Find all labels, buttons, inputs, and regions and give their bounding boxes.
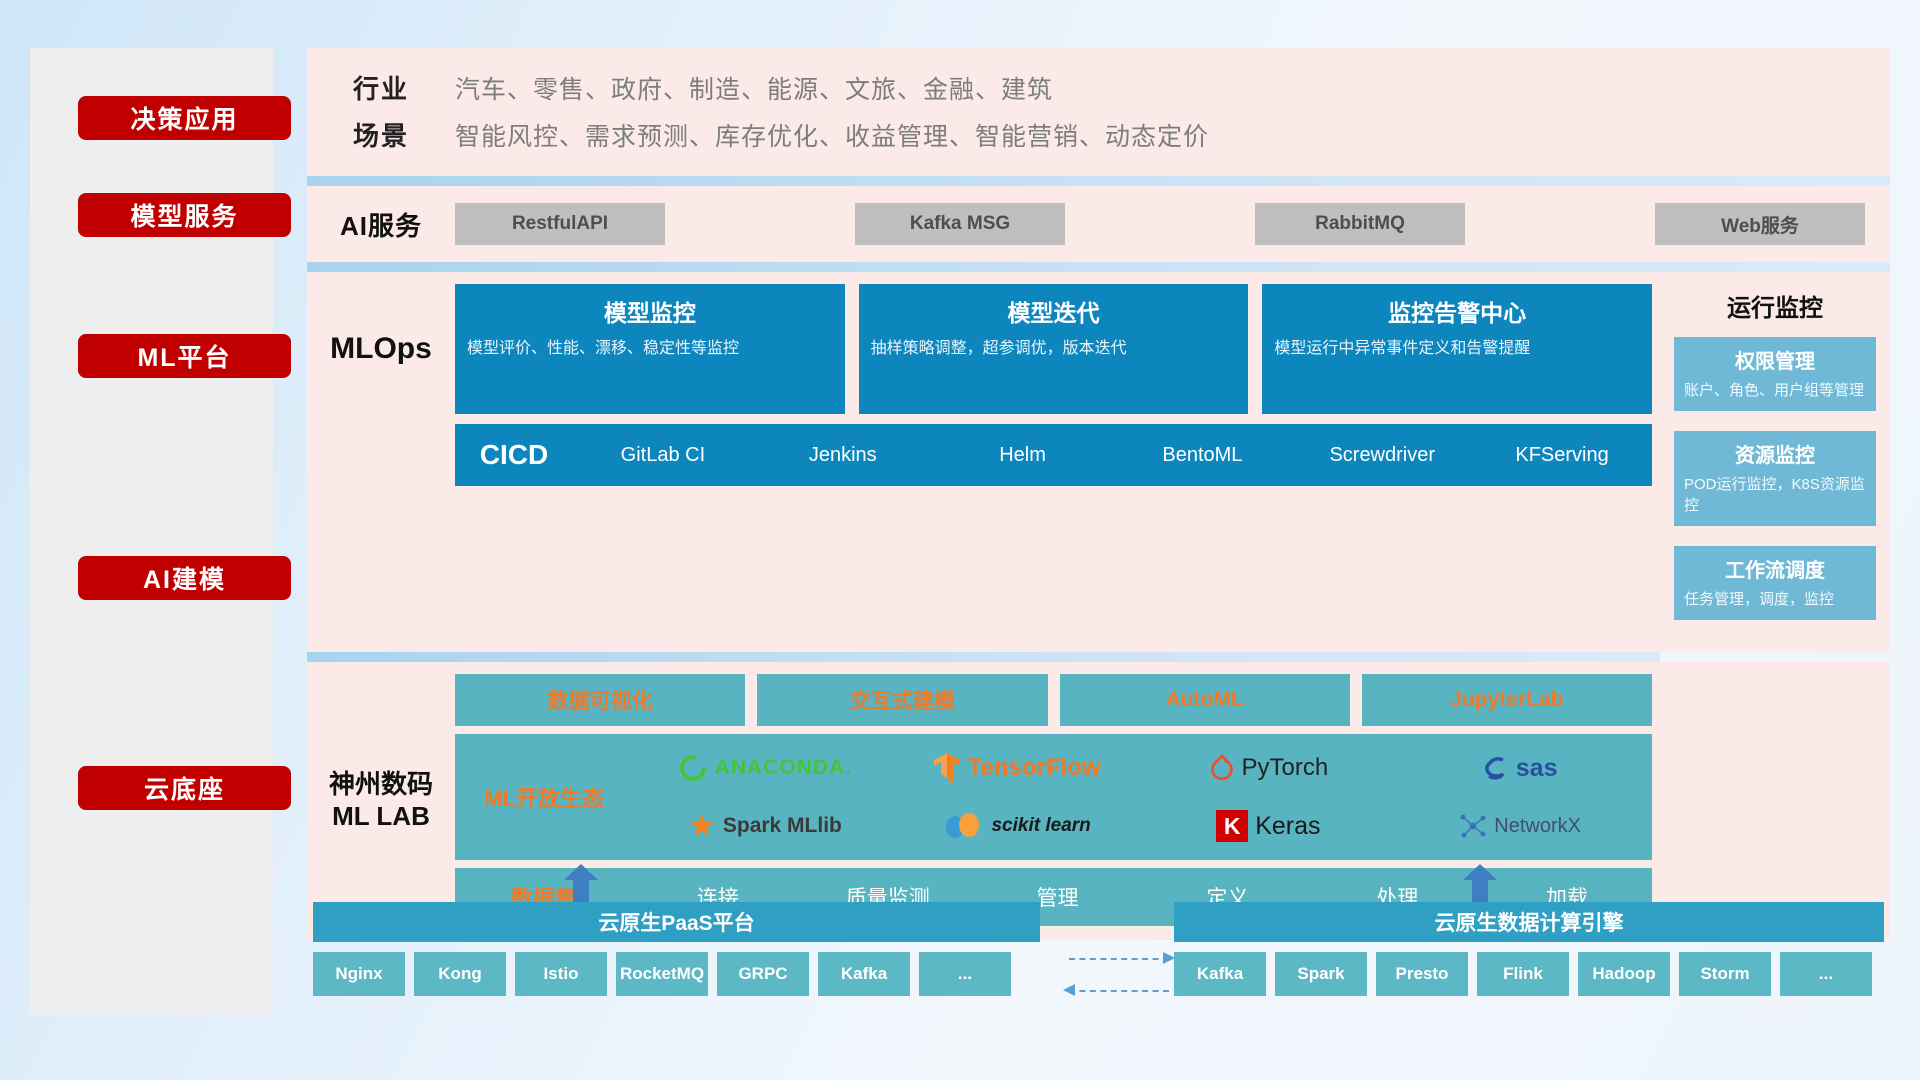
card-desc: 账户、角色、用户组等管理 bbox=[1684, 380, 1866, 401]
ml-ecosystem-logo-grid: ANACONDA. TensorFlow bbox=[633, 734, 1652, 860]
card-title: 监控告警中心 bbox=[1274, 294, 1640, 328]
card-title: 资源监控 bbox=[1684, 439, 1866, 468]
keras-label: Keras bbox=[1255, 812, 1320, 841]
chip-flink[interactable]: Flink bbox=[1477, 952, 1569, 996]
data-engine-bar[interactable]: 云原生数据计算引擎 bbox=[1174, 902, 1884, 942]
card-title: 模型迭代 bbox=[871, 294, 1237, 328]
scikit-learn-label: scikit learn bbox=[991, 815, 1090, 837]
tensorflow-icon bbox=[933, 752, 961, 784]
networkx-label: NetworkX bbox=[1494, 815, 1581, 838]
scikit-learn-icon bbox=[942, 811, 984, 841]
card-title: 工作流调度 bbox=[1684, 554, 1866, 583]
chip-istio[interactable]: Istio bbox=[515, 952, 607, 996]
anaconda-logo: ANACONDA. bbox=[678, 753, 852, 783]
cicd-item-helm[interactable]: Helm bbox=[933, 445, 1113, 466]
cicd-item-gitlab-ci[interactable]: GitLab CI bbox=[573, 445, 753, 466]
anaconda-label: ANACONDA. bbox=[715, 756, 852, 780]
service-chip-kafka-msg[interactable]: Kafka MSG bbox=[855, 203, 1065, 245]
rail-tag-model-service[interactable]: 模型服务 bbox=[78, 193, 291, 237]
networkx-icon bbox=[1459, 812, 1487, 840]
spark-icon bbox=[688, 813, 716, 839]
tensorflow-label: TensorFlow bbox=[968, 754, 1101, 782]
industry-row: 行业 汽车、零售、政府、制造、能源、文旅、金融、建筑 bbox=[307, 64, 1890, 111]
mlops-label: MLOps bbox=[307, 284, 455, 414]
tab-interactive-modeling[interactable]: 交互式建模 bbox=[757, 674, 1047, 726]
ml-ecosystem-label: ML开放生态 bbox=[455, 734, 633, 860]
arrow-right-icon bbox=[1163, 952, 1175, 964]
card-title: 权限管理 bbox=[1684, 345, 1866, 374]
tensorflow-logo: TensorFlow bbox=[933, 752, 1101, 784]
chip-nginx[interactable]: Nginx bbox=[313, 952, 405, 996]
ai-service-label: AI服务 bbox=[307, 206, 455, 243]
runtime-monitor-panel: 运行监控 权限管理 账户、角色、用户组等管理 资源监控 POD运行监控，K8S资… bbox=[1660, 272, 1890, 652]
mlops-card-list: 模型监控 模型评价、性能、漂移、稳定性等监控 模型迭代 抽样策略调整，超参调优，… bbox=[455, 284, 1660, 414]
paas-platform-bar[interactable]: 云原生PaaS平台 bbox=[313, 902, 1040, 942]
chip-hadoop[interactable]: Hadoop bbox=[1578, 952, 1670, 996]
cicd-item-list: GitLab CI Jenkins Helm BentoML Screwdriv… bbox=[573, 445, 1652, 466]
chip-rocketmq[interactable]: RocketMQ bbox=[616, 952, 708, 996]
mlops-panel: MLOps 模型监控 模型评价、性能、漂移、稳定性等监控 模型迭代 抽样策略调整… bbox=[307, 272, 1660, 652]
networkx-logo: NetworkX bbox=[1459, 812, 1581, 840]
tab-jupyterlab[interactable]: JupyterLab bbox=[1362, 674, 1652, 726]
architecture-diagram: 决策应用 模型服务 ML平台 AI建模 云底座 行业 汽车、零售、政府、制造、能… bbox=[0, 0, 1920, 1080]
chip-grpc[interactable]: GRPC bbox=[717, 952, 809, 996]
ai-service-band: AI服务 RestfulAPI Kafka MSG RabbitMQ Web服务 bbox=[307, 186, 1890, 262]
arrow-up-icon-right bbox=[1463, 864, 1497, 904]
cicd-bar: CICD GitLab CI Jenkins Helm BentoML Scre… bbox=[455, 424, 1652, 486]
sas-label: sas bbox=[1516, 754, 1558, 783]
rail-tag-cloud-base[interactable]: 云底座 bbox=[78, 766, 291, 810]
pytorch-icon bbox=[1209, 753, 1235, 783]
ml-lab-label-line1: 神州数码 bbox=[329, 768, 433, 801]
decision-application-band: 行业 汽车、零售、政府、制造、能源、文旅、金融、建筑 场景 智能风控、需求预测、… bbox=[307, 48, 1890, 176]
ml-lab-label-line2: ML LAB bbox=[332, 800, 430, 833]
mlops-card-alert-center[interactable]: 监控告警中心 模型运行中异常事件定义和告警提醒 bbox=[1262, 284, 1652, 414]
cicd-label: CICD bbox=[455, 439, 573, 471]
industry-values: 汽车、零售、政府、制造、能源、文旅、金融、建筑 bbox=[455, 70, 1053, 106]
chip-storm[interactable]: Storm bbox=[1679, 952, 1771, 996]
chip-spark[interactable]: Spark bbox=[1275, 952, 1367, 996]
sas-logo: sas bbox=[1483, 754, 1558, 783]
service-chip-web[interactable]: Web服务 bbox=[1655, 203, 1865, 245]
runtime-monitor-title: 运行监控 bbox=[1674, 288, 1876, 323]
chip-kong[interactable]: Kong bbox=[414, 952, 506, 996]
industry-label: 行业 bbox=[307, 69, 455, 106]
monitor-card-workflow[interactable]: 工作流调度 任务管理，调度，监控 bbox=[1674, 546, 1876, 620]
spark-mllib-logo: Spark MLlib bbox=[688, 813, 842, 839]
band-separator bbox=[307, 176, 1890, 186]
rail-tag-ml-platform[interactable]: ML平台 bbox=[78, 334, 291, 378]
pytorch-label: PyTorch bbox=[1242, 754, 1329, 782]
chip-kafka[interactable]: Kafka bbox=[1174, 952, 1266, 996]
mlops-card-model-iteration[interactable]: 模型迭代 抽样策略调整，超参调优，版本迭代 bbox=[859, 284, 1249, 414]
anaconda-icon bbox=[678, 753, 708, 783]
cicd-item-kfserving[interactable]: KFServing bbox=[1472, 445, 1652, 466]
arrow-left-icon bbox=[1063, 984, 1075, 996]
service-chip-rabbitmq[interactable]: RabbitMQ bbox=[1255, 203, 1465, 245]
cloud-base-section: 云原生PaaS平台 云原生数据计算引擎 Nginx Kong Istio Roc… bbox=[307, 886, 1890, 1016]
paas-chip-row: Nginx Kong Istio RocketMQ GRPC Kafka ... bbox=[313, 952, 1011, 996]
rail-tag-ai-modeling[interactable]: AI建模 bbox=[78, 556, 291, 600]
mlops-row: MLOps 模型监控 模型评价、性能、漂移、稳定性等监控 模型迭代 抽样策略调整… bbox=[307, 272, 1890, 652]
cicd-item-jenkins[interactable]: Jenkins bbox=[753, 445, 933, 466]
arrow-up-icon-left bbox=[564, 864, 598, 904]
keras-icon: K bbox=[1216, 810, 1248, 842]
link-dash-top bbox=[1069, 958, 1169, 960]
chip-presto[interactable]: Presto bbox=[1376, 952, 1468, 996]
mlops-cards-wrap: MLOps 模型监控 模型评价、性能、漂移、稳定性等监控 模型迭代 抽样策略调整… bbox=[307, 284, 1660, 414]
scenario-values: 智能风控、需求预测、库存优化、收益管理、智能营销、动态定价 bbox=[455, 117, 1209, 153]
rail-tag-decision[interactable]: 决策应用 bbox=[78, 96, 291, 140]
scenario-label: 场景 bbox=[307, 116, 455, 153]
ai-service-list: RestfulAPI Kafka MSG RabbitMQ Web服务 bbox=[455, 203, 1890, 245]
card-desc: 任务管理，调度，监控 bbox=[1684, 589, 1866, 610]
scikit-learn-logo: scikit learn bbox=[942, 811, 1090, 841]
keras-logo: K Keras bbox=[1216, 810, 1320, 842]
service-chip-restfulapi[interactable]: RestfulAPI bbox=[455, 203, 665, 245]
card-title: 模型监控 bbox=[467, 294, 833, 328]
tab-automl[interactable]: AutoML bbox=[1060, 674, 1350, 726]
mlops-card-model-monitoring[interactable]: 模型监控 模型评价、性能、漂移、稳定性等监控 bbox=[455, 284, 845, 414]
tab-data-visualization[interactable]: 数据可视化 bbox=[455, 674, 745, 726]
spark-mllib-label: Spark MLlib bbox=[723, 814, 842, 838]
scenario-row: 场景 智能风控、需求预测、库存优化、收益管理、智能营销、动态定价 bbox=[307, 111, 1890, 158]
card-desc: 抽样策略调整，超参调优，版本迭代 bbox=[871, 337, 1237, 360]
card-desc: POD运行监控，K8S资源监控 bbox=[1684, 474, 1866, 516]
cicd-item-bentoml[interactable]: BentoML bbox=[1112, 445, 1292, 466]
cicd-item-screwdriver[interactable]: Screwdriver bbox=[1292, 445, 1472, 466]
link-dash-bottom bbox=[1069, 990, 1169, 992]
sas-icon bbox=[1483, 754, 1509, 782]
chip-more-left[interactable]: ... bbox=[919, 952, 1011, 996]
chip-kafka-paas[interactable]: Kafka bbox=[818, 952, 910, 996]
ml-ecosystem-block: ML开放生态 ANACONDA. bbox=[455, 734, 1652, 860]
ml-lab-tabs: 数据可视化 交互式建模 AutoML JupyterLab bbox=[455, 674, 1652, 726]
card-desc: 模型评价、性能、漂移、稳定性等监控 bbox=[467, 337, 833, 360]
band-separator-2 bbox=[307, 262, 1890, 272]
pytorch-logo: PyTorch bbox=[1209, 753, 1329, 783]
band-separator-3 bbox=[307, 652, 1660, 662]
chip-more-right[interactable]: ... bbox=[1780, 952, 1872, 996]
main-stack: 行业 汽车、零售、政府、制造、能源、文旅、金融、建筑 场景 智能风控、需求预测、… bbox=[307, 48, 1890, 940]
monitor-card-resource[interactable]: 资源监控 POD运行监控，K8S资源监控 bbox=[1674, 431, 1876, 526]
layer-rail: 决策应用 模型服务 ML平台 AI建模 云底座 bbox=[30, 48, 273, 1015]
card-desc: 模型运行中异常事件定义和告警提醒 bbox=[1274, 337, 1640, 360]
monitor-card-permission[interactable]: 权限管理 账户、角色、用户组等管理 bbox=[1674, 337, 1876, 411]
data-engine-chip-row: Kafka Spark Presto Flink Hadoop Storm ..… bbox=[1174, 952, 1872, 996]
